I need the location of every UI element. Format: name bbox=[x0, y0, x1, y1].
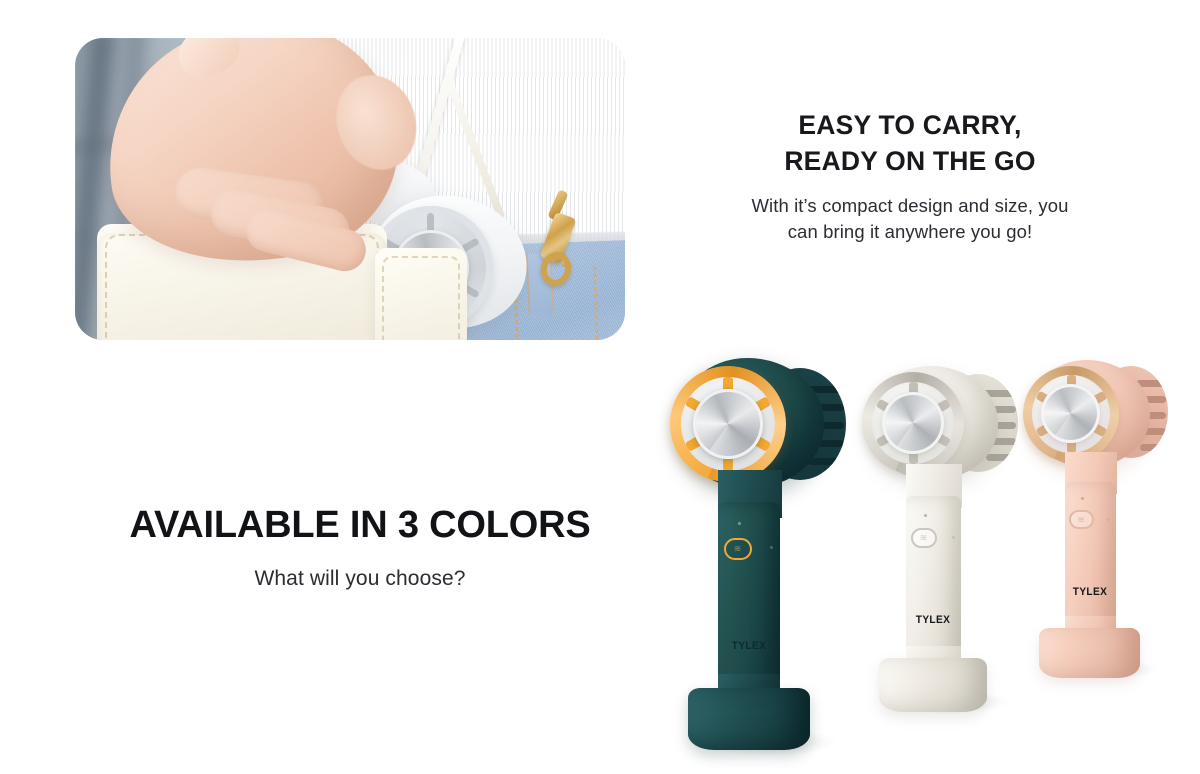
fan-speed-icon: ≋ bbox=[726, 545, 750, 554]
colors-headline: AVAILABLE IN 3 COLORS bbox=[52, 505, 668, 547]
lifestyle-photo bbox=[75, 38, 625, 340]
fan-hub-disc bbox=[693, 389, 763, 459]
fan-base-stand bbox=[879, 658, 987, 712]
status-led bbox=[924, 514, 927, 517]
vent-slot bbox=[808, 458, 844, 465]
bottom-copy-block: AVAILABLE IN 3 COLORS What will you choo… bbox=[52, 505, 668, 591]
fan-speed-icon: ≋ bbox=[1071, 515, 1092, 524]
top-headline-line2: READY ON THE GO bbox=[784, 146, 1035, 176]
fan-speed-icon: ≋ bbox=[913, 534, 935, 543]
brand-logo: TYLEX bbox=[907, 614, 959, 626]
product-fan-pink[interactable]: ≋ TYLEX bbox=[1010, 354, 1170, 676]
handbag-side-stitching bbox=[382, 256, 460, 340]
top-subtext-line1: With it’s compact design and size, you bbox=[751, 195, 1068, 216]
power-button[interactable]: ≋ bbox=[1069, 510, 1094, 529]
fan-hub-disc bbox=[882, 392, 944, 454]
brand-logo: TYLEX bbox=[1066, 586, 1114, 598]
product-banner: EASY TO CARRY, READY ON THE GO With it’s… bbox=[0, 0, 1200, 774]
power-button[interactable]: ≋ bbox=[911, 528, 937, 548]
top-subtext-line2: can bring it anywhere you go! bbox=[788, 221, 1033, 242]
top-subtext: With it’s compact design and size, you c… bbox=[660, 193, 1160, 246]
product-color-lineup: ≋ TYLEX bbox=[640, 352, 1200, 772]
fan-hub-disc bbox=[1041, 384, 1100, 443]
status-led bbox=[1081, 497, 1084, 500]
product-fan-teal[interactable]: ≋ TYLEX bbox=[654, 352, 844, 752]
top-copy-block: EASY TO CARRY, READY ON THE GO With it’s… bbox=[660, 108, 1160, 246]
fan-base-stand bbox=[688, 688, 810, 750]
status-led bbox=[738, 522, 741, 525]
status-led bbox=[770, 546, 773, 549]
status-led bbox=[1107, 518, 1110, 521]
fan-handle bbox=[718, 502, 780, 702]
vent-slot bbox=[1140, 444, 1166, 451]
product-fan-cream[interactable]: ≋ TYLEX bbox=[848, 360, 1018, 710]
top-headline-line1: EASY TO CARRY, bbox=[798, 110, 1021, 140]
brand-logo: TYLEX bbox=[720, 640, 777, 652]
status-led bbox=[952, 536, 955, 539]
fan-base-stand bbox=[1039, 628, 1140, 678]
top-headline: EASY TO CARRY, READY ON THE GO bbox=[660, 108, 1160, 179]
colors-subtitle: What will you choose? bbox=[52, 567, 668, 591]
power-button[interactable]: ≋ bbox=[724, 538, 752, 560]
thumb bbox=[171, 38, 246, 85]
